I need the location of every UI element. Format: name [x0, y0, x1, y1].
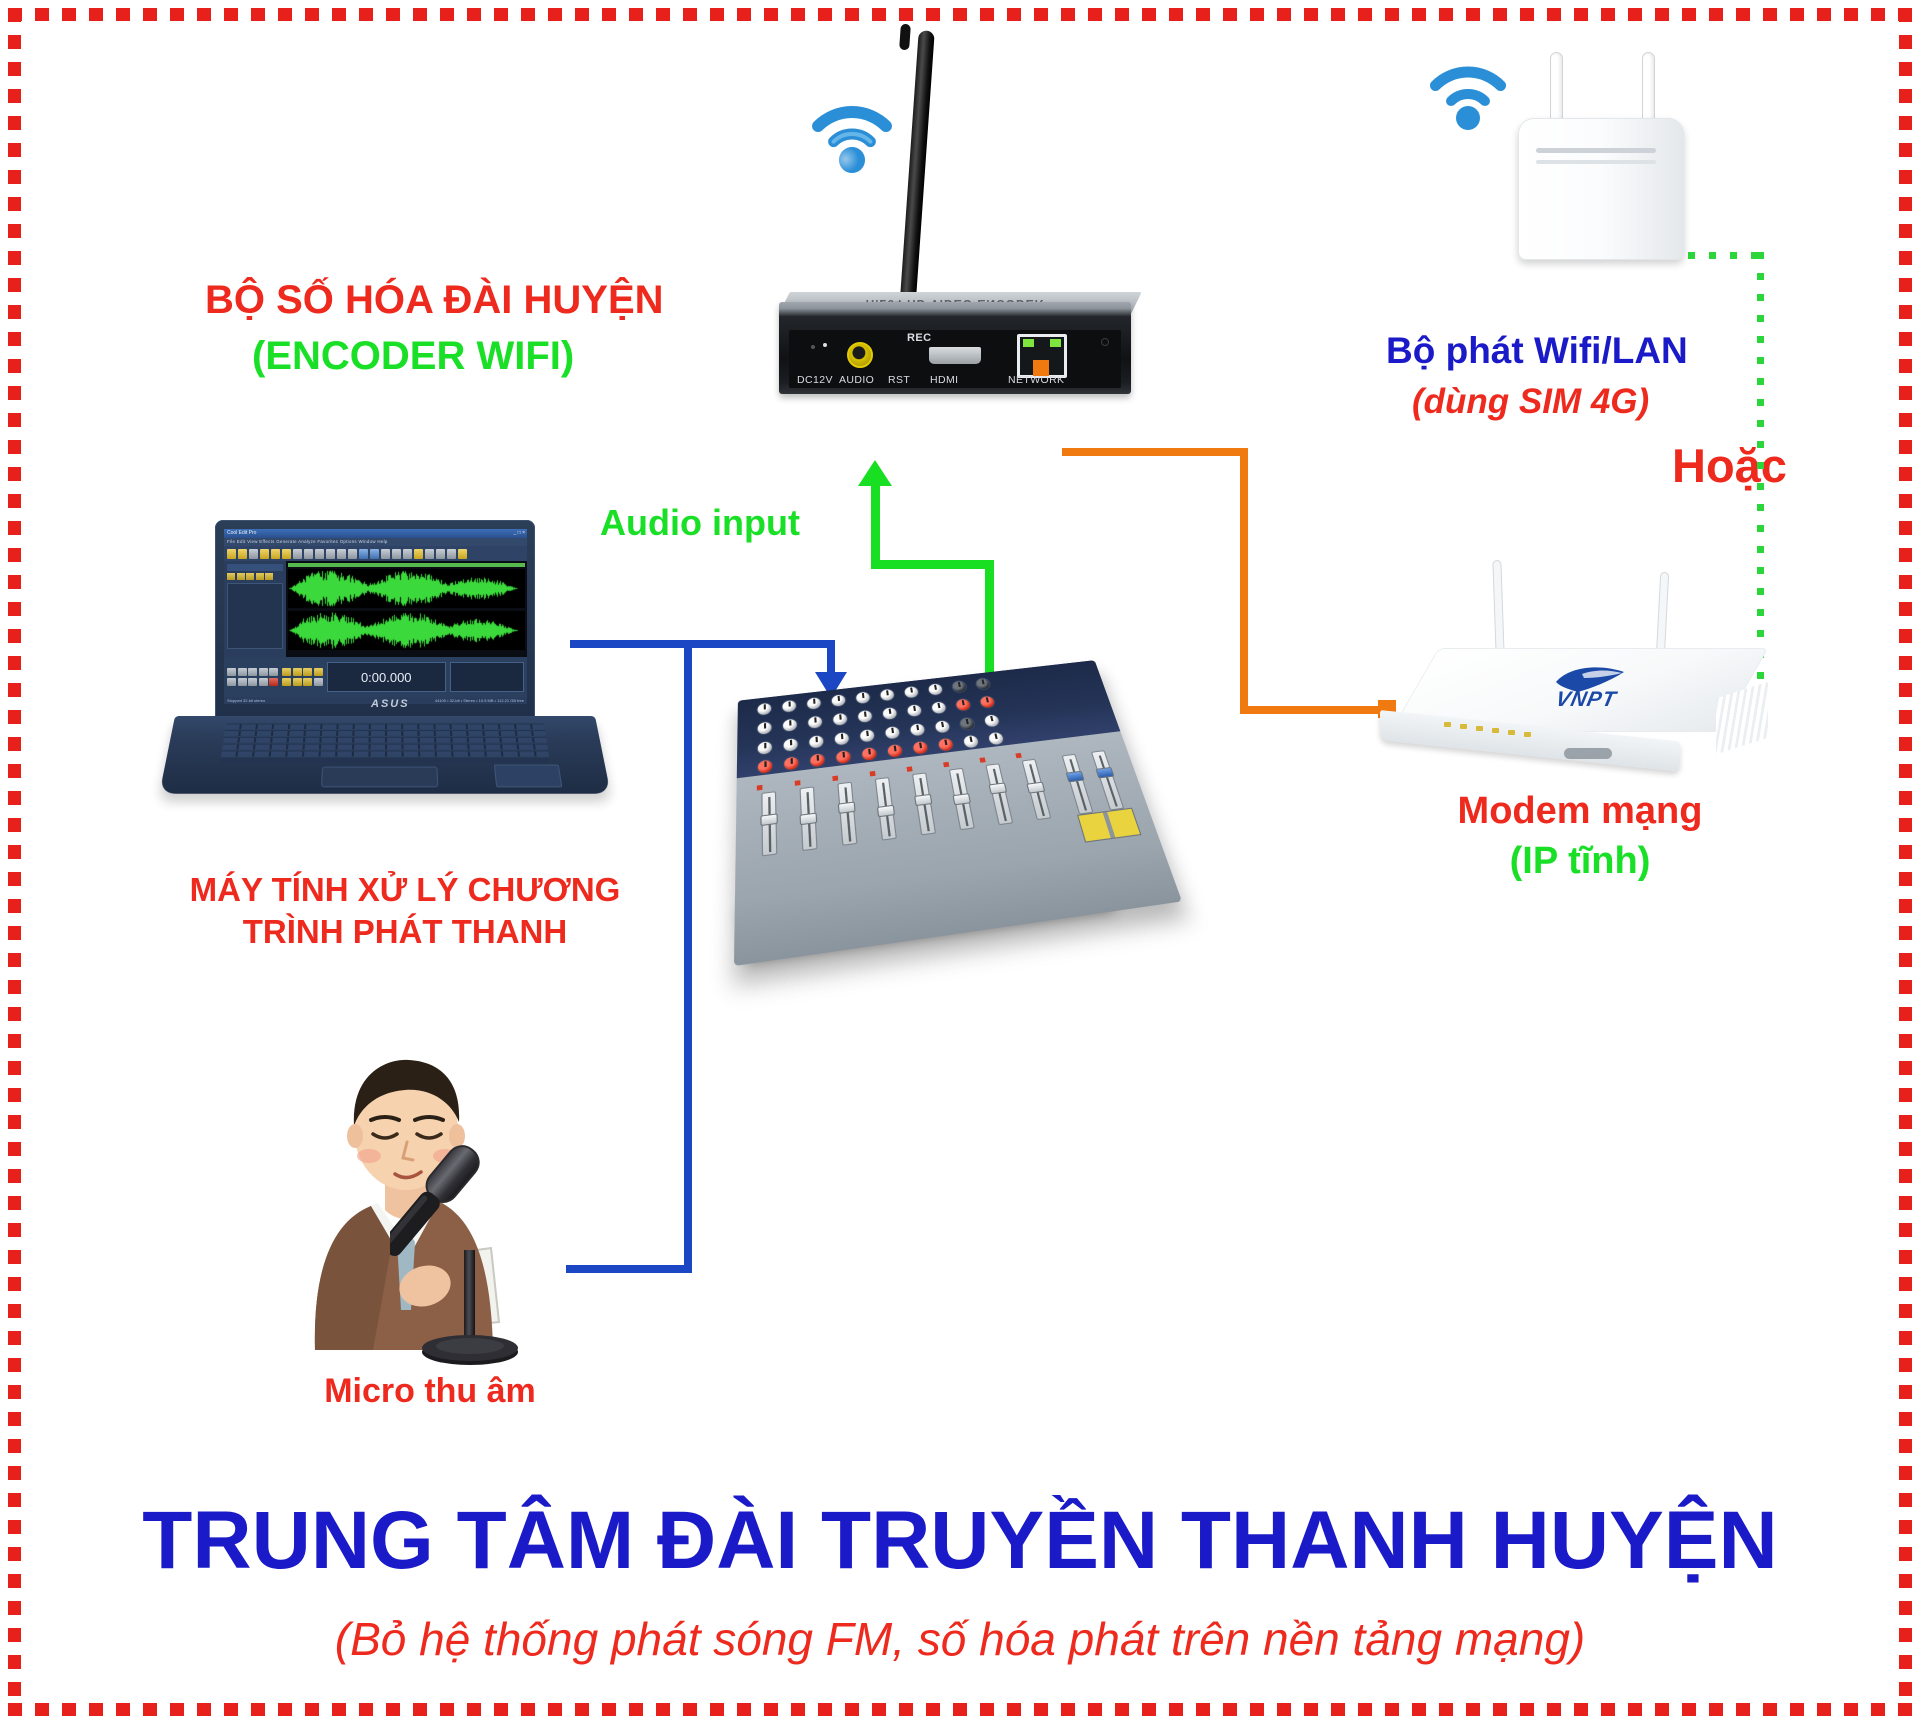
mixer-master-fader-cap[interactable] — [1066, 771, 1085, 783]
mixer-fader-cap[interactable] — [877, 805, 895, 818]
audio-mixer-device[interactable] — [740, 680, 1140, 960]
zoom-buttons-group[interactable] — [282, 668, 323, 686]
encoder-rec-label: REC — [907, 332, 931, 344]
vnpt-logo-text: VNPT — [1553, 688, 1618, 712]
diagram-canvas: H.264 HD VIDEO ENCODER REC DC12V AUDIO R… — [0, 0, 1920, 1724]
mixer-fader-cap[interactable] — [952, 793, 971, 805]
laptop-base — [159, 716, 610, 794]
wire-mixer-to-audio-h — [871, 560, 994, 569]
page-title: TRUNG TÂM ĐÀI TRUYỀN THANH HUYỆN — [0, 1494, 1920, 1588]
app-main-area — [224, 561, 527, 657]
waveform-channel-left — [288, 569, 525, 608]
laptop-label-line1: MÁY TÍNH XỬ LÝ CHƯƠNG — [120, 872, 690, 909]
modem-title-label: Modem mạng — [1370, 790, 1790, 833]
encoder-port-label-hdmi: HDMI — [930, 374, 958, 386]
modem-led — [1476, 726, 1483, 731]
recording-microphone[interactable] — [390, 1130, 560, 1380]
router-vent-slot-2 — [1536, 160, 1656, 164]
frame-border-bottom — [8, 1703, 1912, 1716]
router-antenna-left — [1550, 52, 1563, 126]
router-body — [1518, 118, 1684, 260]
wire-mixer-to-audio-v2 — [871, 482, 880, 568]
encoder-title-label: BỘ SỐ HÓA ĐÀI HUYỆN — [205, 278, 664, 323]
modem-led — [1508, 730, 1515, 735]
laptop-label-line2: TRÌNH PHÁT THANH — [120, 914, 690, 951]
app-menubar[interactable]: File Edit View Effects Generate Analyze … — [224, 538, 527, 546]
encoder-port-label-audio: AUDIO — [839, 374, 874, 386]
encoder-led-2 — [823, 343, 827, 347]
wifi-router-subtitle-label: (dùng SIM 4G) — [1412, 382, 1649, 421]
modem-led — [1460, 724, 1467, 729]
wire-encoder-to-network-v — [1240, 448, 1248, 714]
mixer-fader-cap[interactable] — [1026, 782, 1045, 794]
vnpt-modem-device[interactable]: VNPT — [1380, 560, 1800, 790]
mixer-top-panel — [734, 660, 1182, 966]
mixer-fader-cap[interactable] — [989, 782, 1008, 794]
window-controls[interactable]: _ □ × — [514, 529, 526, 538]
app-waveform-panel[interactable] — [286, 561, 527, 657]
laptop-brand-logo: ASUS — [371, 698, 410, 710]
app-title-text: Cool Edit Pro — [227, 529, 256, 538]
wire-network-to-modem-h2 — [1240, 706, 1385, 714]
mixer-master-fader-cap[interactable] — [1095, 767, 1114, 779]
page-subtitle: (Bỏ hệ thống phát sóng FM, số hóa phát t… — [0, 1612, 1920, 1666]
app-transport-bar[interactable]: 0:00.000 — [224, 657, 527, 697]
laptop-keyboard[interactable] — [220, 723, 550, 762]
or-label: Hoặc — [1672, 440, 1787, 493]
encoder-device[interactable]: H.264 HD VIDEO ENCODER REC DC12V AUDIO R… — [755, 30, 1155, 410]
modem-led — [1492, 728, 1499, 733]
playback-timer-display: 0:00.000 — [327, 662, 447, 692]
wire-laptop-to-mixer-h — [570, 640, 835, 648]
wire-mic-to-mixer-v — [684, 640, 692, 1273]
broadcast-computer-laptop[interactable]: Cool Edit Pro _ □ × File Edit View Effec… — [175, 520, 595, 860]
encoder-antenna-tip — [899, 24, 911, 51]
modem-antenna-left — [1492, 560, 1504, 656]
app-file-panel[interactable] — [224, 561, 286, 657]
laptop-screen[interactable]: Cool Edit Pro _ □ × File Edit View Effec… — [224, 529, 527, 704]
audio-input-label: Audio input — [600, 503, 800, 543]
modem-led — [1524, 732, 1531, 737]
wifi-router-4g-device[interactable] — [1470, 30, 1760, 280]
encoder-subtitle-label: (ENCODER WIFI) — [252, 334, 574, 379]
router-vent-slot-1 — [1536, 148, 1656, 153]
encoder-faceplate: REC DC12V AUDIO RST HDMI NETWORK — [789, 330, 1121, 388]
frame-border-right — [1899, 8, 1912, 1716]
laptop-lid: Cool Edit Pro _ □ × File Edit View Effec… — [215, 520, 535, 718]
encoder-network-cable-plug — [1033, 360, 1049, 376]
encoder-hdmi-port[interactable] — [929, 347, 981, 364]
mixer-fader-cap[interactable] — [838, 802, 856, 814]
waveform-overview-bar — [288, 563, 525, 567]
modem-led — [1444, 722, 1451, 727]
mixer-fader-cap[interactable] — [760, 813, 777, 826]
encoder-led-1 — [811, 345, 815, 349]
transport-buttons-group[interactable] — [227, 668, 278, 686]
modem-subtitle-label: (IP tĩnh) — [1370, 840, 1790, 883]
statusbar-right-text: 44100 • 32-bit • Stereo • 10.5 MB • 112.… — [435, 697, 524, 704]
encoder-network-led-left — [1023, 339, 1034, 347]
frame-border-top — [8, 8, 1912, 21]
app-titlebar: Cool Edit Pro _ □ × — [224, 529, 527, 538]
statusbar-left-text: Stopped 32-bit stereo — [227, 697, 265, 704]
arrow-audio-input — [858, 460, 892, 486]
app-toolbar[interactable] — [224, 546, 527, 561]
level-meter-panel — [450, 662, 524, 692]
laptop-trackpad[interactable] — [321, 767, 439, 788]
encoder-screw — [1101, 338, 1109, 346]
modem-power-button[interactable] — [1564, 748, 1612, 759]
wire-encoder-to-network-h1 — [1062, 448, 1248, 456]
laptop-numpad[interactable] — [494, 765, 563, 788]
modem-antenna-right — [1656, 572, 1669, 658]
waveform-channel-right — [288, 611, 525, 650]
encoder-audio-jack[interactable] — [847, 342, 873, 368]
mixer-fader-cap[interactable] — [800, 813, 818, 826]
encoder-network-led-right — [1050, 339, 1061, 347]
frame-border-left — [8, 8, 21, 1716]
router-antenna-right — [1642, 52, 1655, 126]
wifi-router-title-label: Bộ phát Wifi/LAN — [1386, 330, 1688, 371]
mixer-fader-cap[interactable] — [914, 794, 932, 806]
encoder-port-label-dc12v: DC12V — [797, 374, 833, 386]
modem-led-row — [1444, 722, 1564, 728]
encoder-port-label-rst: RST — [888, 374, 910, 386]
